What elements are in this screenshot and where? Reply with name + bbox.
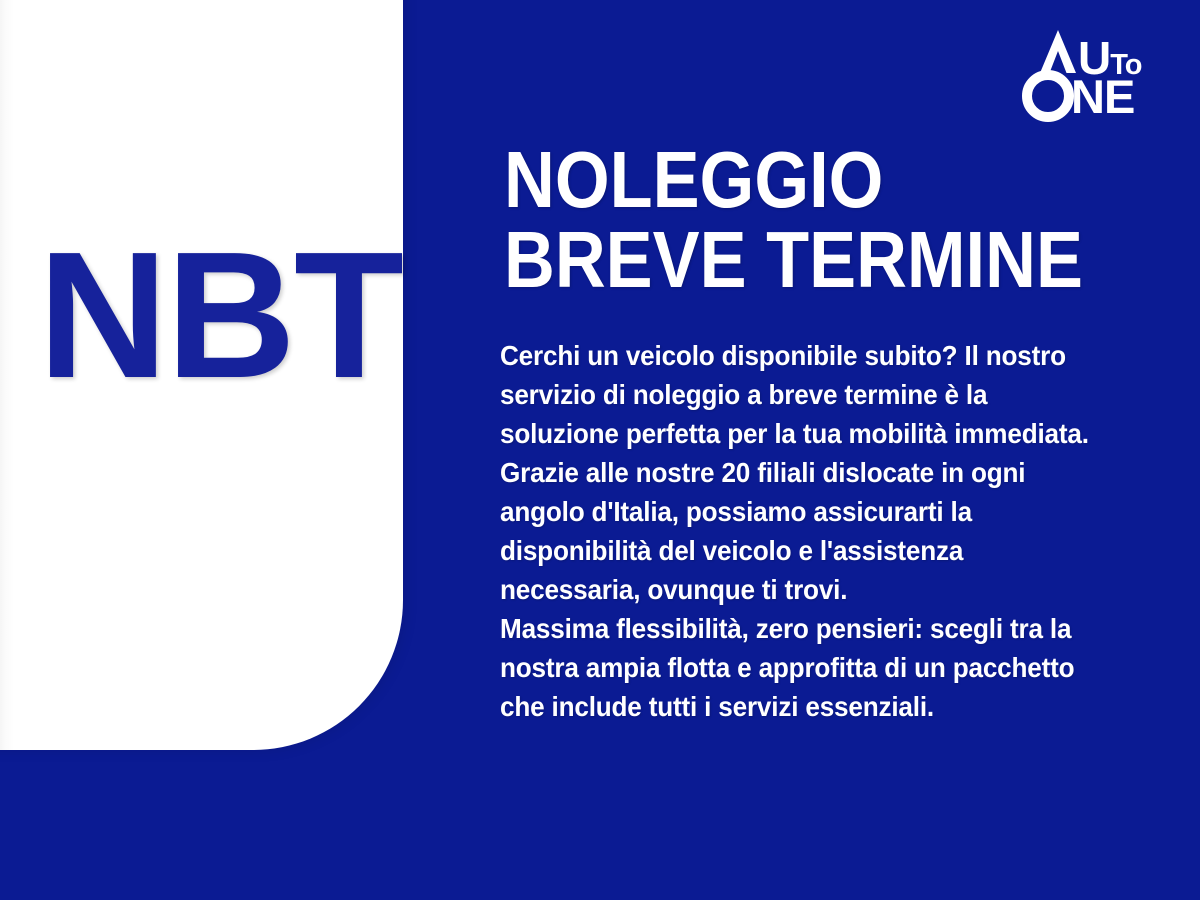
page-title: NOLEGGIO BREVE TERMINE	[504, 140, 1085, 300]
left-white-panel: NBT	[0, 0, 403, 750]
content-column: U To NE NOLEGGIO BREVE TERMINE Cerchi un…	[500, 0, 1160, 900]
headline-line-2: BREVE TERMINE	[504, 220, 1085, 300]
headline-line-1: NOLEGGIO	[504, 140, 1085, 220]
promo-poster: NBT U To NE	[0, 0, 1200, 900]
logo-triangle-a-icon	[1038, 28, 1078, 74]
body-paragraph-3: Massima flessibilità, zero pensieri: sce…	[500, 609, 1108, 726]
autoone-logo[interactable]: U To NE	[1016, 28, 1184, 124]
body-paragraph-1: Cerchi un veicolo disponibile subito? Il…	[500, 336, 1108, 453]
body-paragraph-2: Grazie alle nostre 20 filiali dislocate …	[500, 453, 1108, 609]
logo-letters-ne: NE	[1071, 73, 1134, 120]
nbt-wordmark: NBT	[38, 226, 402, 406]
body-copy: Cerchi un veicolo disponibile subito? Il…	[500, 336, 1108, 726]
logo-ring-o-icon	[1022, 70, 1074, 122]
logo-line-one: NE	[1022, 70, 1134, 122]
panel-left-edge-shading	[0, 0, 14, 750]
